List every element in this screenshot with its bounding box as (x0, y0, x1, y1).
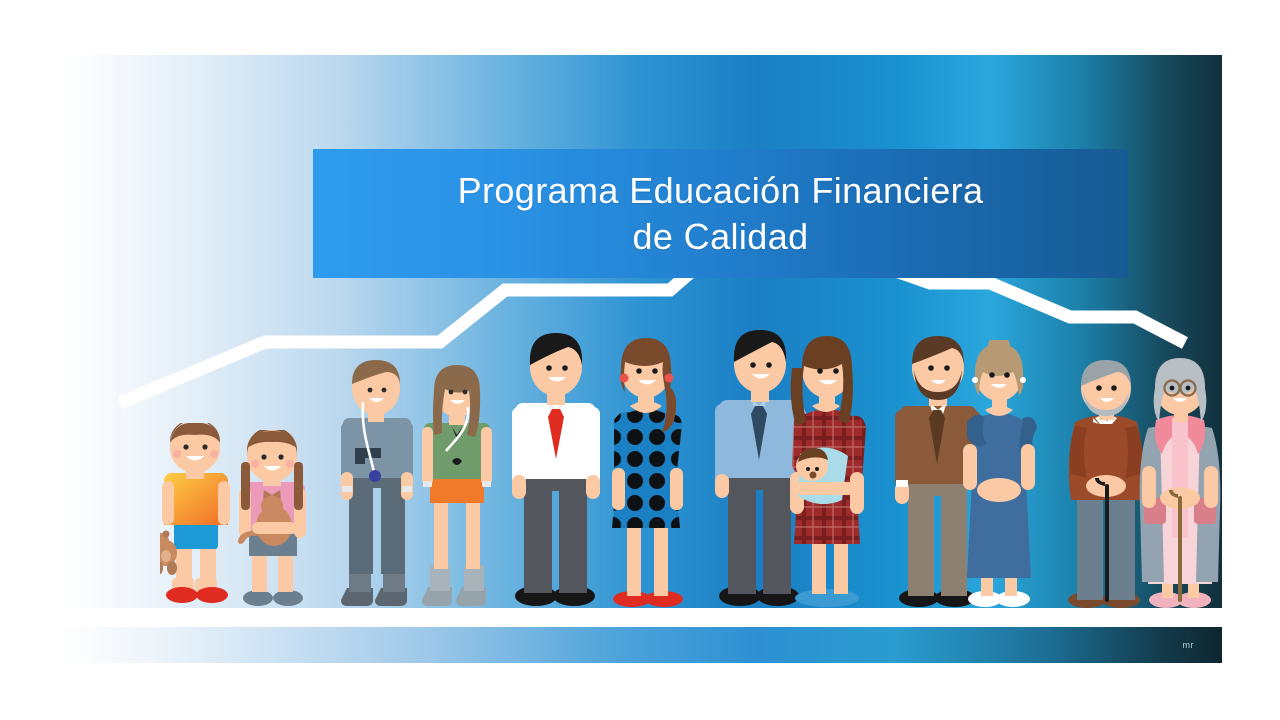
baby-icon (796, 447, 848, 504)
figure-young-woman (602, 338, 690, 608)
figure-adult-woman (957, 340, 1041, 608)
page-title: Programa Educación Financiera de Calidad (458, 168, 984, 260)
figure-teen-boy (341, 360, 413, 608)
slide-canvas: Programa Educación Financiera de Calidad… (0, 0, 1280, 720)
ground-line (60, 604, 1222, 608)
cane-icon (1105, 484, 1109, 602)
title-banner: Programa Educación Financiera de Calidad (313, 149, 1128, 278)
figure-teen-girl (422, 365, 492, 608)
bottom-accent-bar: mr (60, 627, 1222, 663)
illustration-panel: Programa Educación Financiera de Calidad (60, 55, 1222, 608)
figure-child-girl (236, 430, 324, 608)
figure-elderly-woman (1132, 358, 1222, 608)
cane-icon (1178, 496, 1182, 602)
figure-mother-with-baby (782, 336, 874, 608)
watermark-label: mr (1183, 640, 1195, 650)
figure-young-man (512, 333, 602, 608)
